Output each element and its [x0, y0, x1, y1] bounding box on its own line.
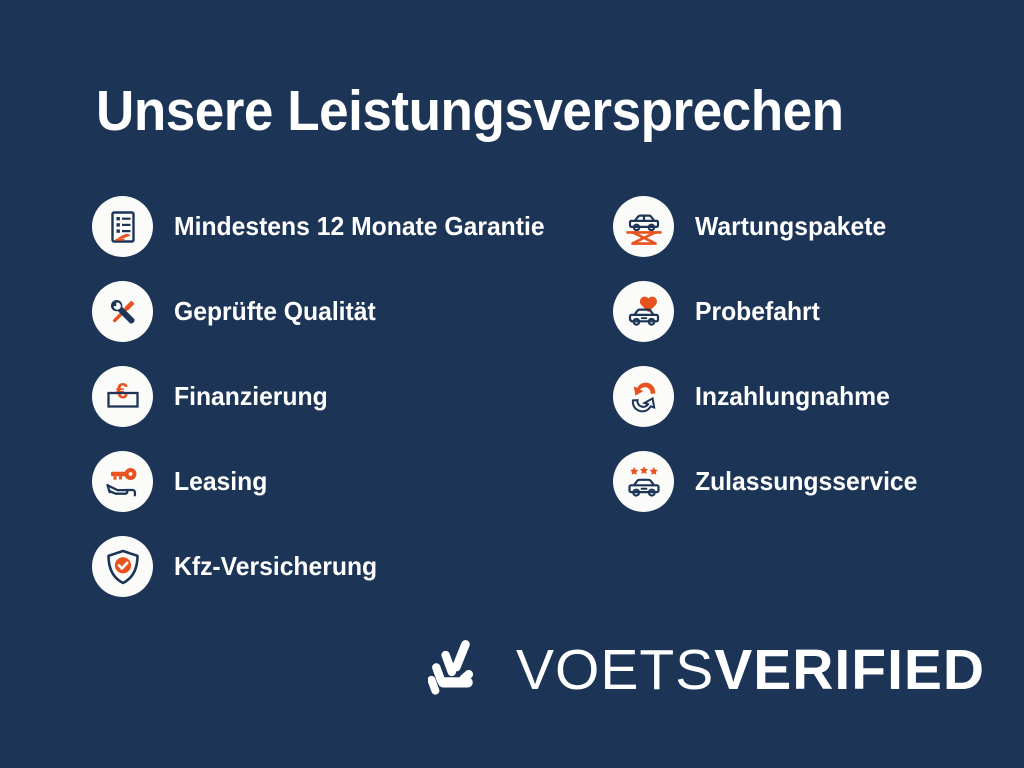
promo-graphic: Unsere Leistungsversprechen	[0, 0, 1024, 768]
feature-column-right: Wartungspakete Probefahrt	[613, 196, 1013, 536]
voets-v-checkmark-icon	[428, 637, 490, 703]
key-in-hand-icon	[92, 451, 153, 512]
feature-label: Geprüfte Qualität	[174, 281, 376, 342]
feature-label: Leasing	[174, 451, 267, 512]
feature-item-probefahrt: Probefahrt	[613, 281, 1013, 366]
feature-item-finanzierung: € Finanzierung	[92, 366, 612, 451]
exchange-arrows-icon	[613, 366, 674, 427]
feature-item-leasing: Leasing	[92, 451, 612, 536]
logo-text-voets: VOETS	[516, 638, 714, 702]
feature-item-wartungspakete: Wartungspakete	[613, 196, 1013, 281]
logo-text-verified: VERIFIED	[714, 638, 985, 702]
feature-item-versicherung: Kfz-Versicherung	[92, 536, 612, 621]
feature-label: Inzahlungnahme	[695, 366, 890, 427]
feature-label: Kfz-Versicherung	[174, 536, 377, 597]
car-three-stars-icon	[613, 451, 674, 512]
feature-label: Finanzierung	[174, 366, 328, 427]
euro-banknote-icon: €	[92, 366, 153, 427]
feature-label: Wartungspakete	[695, 196, 886, 257]
voets-verified-logo: VOETSVERIFIED	[428, 637, 985, 703]
car-on-lift-icon	[613, 196, 674, 257]
feature-label: Mindestens 12 Monate Garantie	[174, 196, 545, 257]
feature-column-left: Mindestens 12 Monate Garantie Geprüfte Q	[92, 196, 612, 621]
feature-item-zulassungsservice: Zulassungsservice	[613, 451, 1013, 536]
svg-text:€: €	[115, 378, 127, 403]
certificate-document-icon	[92, 196, 153, 257]
shield-check-icon	[92, 536, 153, 597]
wrench-screwdriver-icon	[92, 281, 153, 342]
feature-label: Zulassungsservice	[695, 451, 917, 512]
logo-wordmark: VOETSVERIFIED	[516, 639, 985, 701]
feature-label: Probefahrt	[695, 281, 820, 342]
car-heart-icon	[613, 281, 674, 342]
page-title: Unsere Leistungsversprechen	[96, 78, 844, 144]
feature-item-garantie: Mindestens 12 Monate Garantie	[92, 196, 612, 281]
feature-item-inzahlungnahme: Inzahlungnahme	[613, 366, 1013, 451]
feature-item-qualitaet: Geprüfte Qualität	[92, 281, 612, 366]
